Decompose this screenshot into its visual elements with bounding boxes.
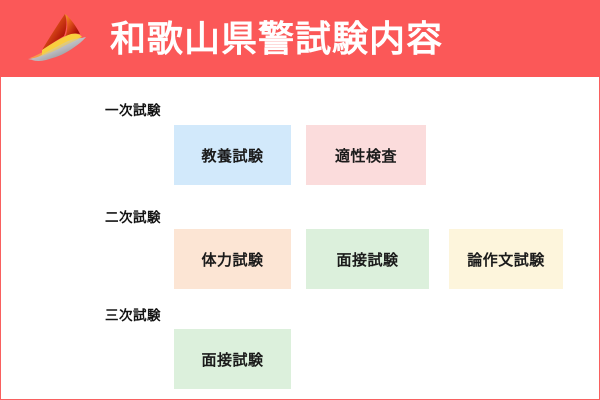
exam-stage-section-3: 三次試験 面接試験	[1, 283, 599, 399]
exam-box-tairyoku-shiken[interactable]: 体力試験	[174, 229, 291, 289]
exam-box-tekisei-kensa[interactable]: 適性検査	[306, 125, 426, 185]
section-label-stage-1: 一次試験	[105, 99, 161, 119]
exam-stage-section-2: 二次試験 体力試験 面接試験 論作文試験	[1, 185, 599, 283]
page-header: 和歌山県警試験内容	[0, 0, 600, 77]
slide-page: 和歌山県警試験内容 一次試験 教養試験 適性検査 二次試験 体力試験 面接試験 …	[0, 0, 600, 400]
page-title: 和歌山県警試験内容	[110, 21, 443, 57]
section-label-stage-3: 三次試験	[105, 304, 161, 324]
exam-box-ronsakubun-shiken[interactable]: 論作文試験	[449, 229, 563, 289]
wakayama-police-bird-logo-icon	[24, 12, 98, 64]
exam-box-kyoyo-shiken[interactable]: 教養試験	[174, 125, 291, 185]
exam-flow-content: 一次試験 教養試験 適性検査 二次試験 体力試験 面接試験 論作文試験 三次試験…	[1, 78, 599, 399]
section-label-stage-2: 二次試験	[105, 206, 161, 226]
exam-box-mensetsu-shiken-stage3[interactable]: 面接試験	[174, 329, 291, 389]
exam-box-mensetsu-shiken-stage2[interactable]: 面接試験	[306, 229, 429, 289]
exam-stage-section-1: 一次試験 教養試験 適性検査	[1, 78, 599, 185]
